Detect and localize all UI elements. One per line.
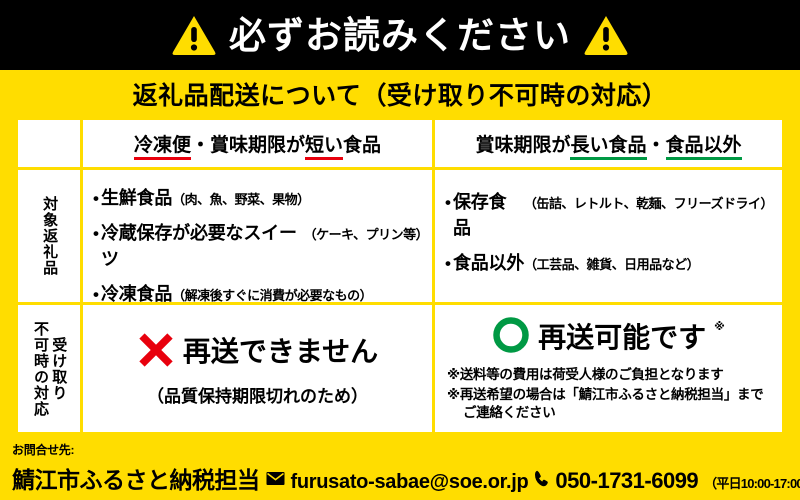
target-items-left-cell: • 生鮮食品 （肉、魚、野菜、果物） • 冷蔵保存が必要なスイーツ （ケーキ、プ… bbox=[83, 170, 432, 302]
warning-triangle-icon bbox=[171, 14, 217, 56]
header-banner: 必ずお読みください bbox=[0, 0, 800, 70]
col-left-sep: ・ bbox=[191, 135, 210, 156]
result-right-note: ※再送希望の場合は「鯖江市ふるさと納税担当」まで ご連絡ください bbox=[447, 386, 770, 421]
col-right-term1: 賞味期限が bbox=[475, 135, 570, 156]
row-label-undeliverable-response: 受け取り 不可時の対応 bbox=[18, 305, 80, 432]
poster-root: 必ずお読みください 返礼品配送について（受け取り不可時の対応） 冷凍便・賞味期限… bbox=[0, 0, 800, 500]
list-item-sub: （解凍後すぐに消費が必要なもの） bbox=[172, 285, 372, 304]
row-label-target-items: 対象返礼品 bbox=[18, 170, 80, 302]
list-item: • 冷蔵保存が必要なスイーツ （ケーキ、プリン等） bbox=[93, 219, 422, 271]
row-label-part-right: 受け取り bbox=[49, 337, 67, 401]
mail-icon bbox=[266, 471, 285, 486]
col-right-term3: 食品以外 bbox=[666, 135, 742, 160]
circle-mark-icon bbox=[492, 316, 530, 354]
page-title: 必ずお読みください bbox=[229, 17, 571, 54]
corner-cell bbox=[18, 120, 80, 167]
footer-department: 鯖江市ふるさと納税担当 bbox=[12, 461, 260, 495]
subtitle-band: 返礼品配送について（受け取り不可時の対応） bbox=[0, 70, 800, 118]
footer-hours: （平日10:00-17:00対応） bbox=[704, 473, 800, 492]
target-items-right-cell: • 保存食品 （缶詰、レトルト、乾麺、フリーズドライ） • 食品以外 （工芸品、… bbox=[435, 170, 782, 302]
col-right-term2: 長い食品 bbox=[570, 135, 646, 160]
footer-phone[interactable]: 050-1731-6099 bbox=[555, 468, 698, 494]
col-right-sep: ・ bbox=[647, 135, 666, 156]
list-item-main: 食品以外 bbox=[453, 249, 524, 275]
table-row: 受け取り 不可時の対応 再送できません （品質保持期限切れのため） bbox=[18, 305, 782, 432]
phone-icon bbox=[534, 470, 549, 487]
bullet-dot: • bbox=[445, 194, 451, 211]
col-left-term3: 短い bbox=[305, 135, 343, 160]
list-item-sub: （肉、魚、野菜、果物） bbox=[172, 189, 310, 208]
list-item-sub: （ケーキ、プリン等） bbox=[304, 224, 422, 243]
bullet-dot: • bbox=[93, 225, 99, 242]
bullet-dot: • bbox=[93, 286, 99, 303]
result-right-text: 再送可能です bbox=[538, 316, 706, 356]
list-item-main: 冷凍食品 bbox=[101, 280, 172, 306]
table-header-row: 冷凍便・賞味期限が短い食品 賞味期限が長い食品・食品以外 bbox=[18, 120, 782, 167]
bullet-dot: • bbox=[445, 255, 451, 272]
note-line-continued: ご連絡ください bbox=[447, 404, 770, 422]
footer-contact: お問合せ先: 鯖江市ふるさと納税担当 furusato-sabae@soe.or… bbox=[0, 435, 800, 500]
col-left-term2: 賞味期限が bbox=[210, 135, 305, 156]
result-resend-ok: 再送可能です ※ ※送料等の費用は荷受人様のご負担となります ※再送希望の場合は… bbox=[435, 305, 782, 432]
bullet-dot: • bbox=[93, 190, 99, 207]
list-item: • 食品以外 （工芸品、雑貨、日用品など） bbox=[445, 249, 772, 275]
note-line: ※再送希望の場合は「鯖江市ふるさと納税担当」まで bbox=[447, 387, 763, 402]
result-left-note: （品質保持期限切れのため） bbox=[147, 382, 368, 407]
column-header-left: 冷凍便・賞味期限が短い食品 bbox=[83, 120, 432, 167]
footer-label: お問合せ先: bbox=[12, 441, 788, 458]
footer-email[interactable]: furusato-sabae@soe.or.jp bbox=[291, 471, 529, 494]
list-item: • 生鮮食品 （肉、魚、野菜、果物） bbox=[93, 184, 422, 210]
note-line: ※送料等の費用は荷受人様のご負担となります bbox=[447, 367, 723, 382]
list-item: • 保存食品 （缶詰、レトルト、乾麺、フリーズドライ） bbox=[445, 188, 772, 240]
subtitle-text: 返礼品配送について（受け取り不可時の対応） bbox=[133, 76, 668, 112]
result-right-superscript: ※ bbox=[714, 320, 725, 333]
table-row: 対象返礼品 • 生鮮食品 （肉、魚、野菜、果物） • 冷蔵保存が必要なスイーツ … bbox=[18, 170, 782, 302]
result-left-text: 再送できません bbox=[183, 330, 378, 370]
result-no-resend: 再送できません （品質保持期限切れのため） bbox=[83, 305, 432, 432]
col-left-term4: 食品 bbox=[343, 135, 381, 156]
list-item-sub: （工芸品、雑貨、日用品など） bbox=[524, 254, 699, 273]
x-mark-icon bbox=[137, 331, 175, 369]
list-item-main: 生鮮食品 bbox=[101, 184, 172, 210]
target-items-right-list: • 保存食品 （缶詰、レトルト、乾麺、フリーズドライ） • 食品以外 （工芸品、… bbox=[435, 170, 782, 302]
result-right-cell: 再送可能です ※ ※送料等の費用は荷受人様のご負担となります ※再送希望の場合は… bbox=[435, 305, 782, 432]
info-table: 冷凍便・賞味期限が短い食品 賞味期限が長い食品・食品以外 対象返礼品 • 生鮮食… bbox=[18, 120, 782, 432]
result-right-note: ※送料等の費用は荷受人様のご負担となります bbox=[447, 366, 770, 384]
column-header-right: 賞味期限が長い食品・食品以外 bbox=[435, 120, 782, 167]
list-item-main: 冷蔵保存が必要なスイーツ bbox=[101, 219, 304, 271]
row-label-part-left: 不可時の対応 bbox=[31, 321, 49, 417]
result-left-cell: 再送できません （品質保持期限切れのため） bbox=[83, 305, 432, 432]
col-left-term1: 冷凍便 bbox=[134, 135, 191, 160]
list-item-main: 保存食品 bbox=[453, 188, 524, 240]
list-item: • 冷凍食品 （解凍後すぐに消費が必要なもの） bbox=[93, 280, 422, 306]
warning-triangle-icon bbox=[583, 14, 629, 56]
list-item-sub: （缶詰、レトルト、乾麺、フリーズドライ） bbox=[524, 193, 772, 212]
